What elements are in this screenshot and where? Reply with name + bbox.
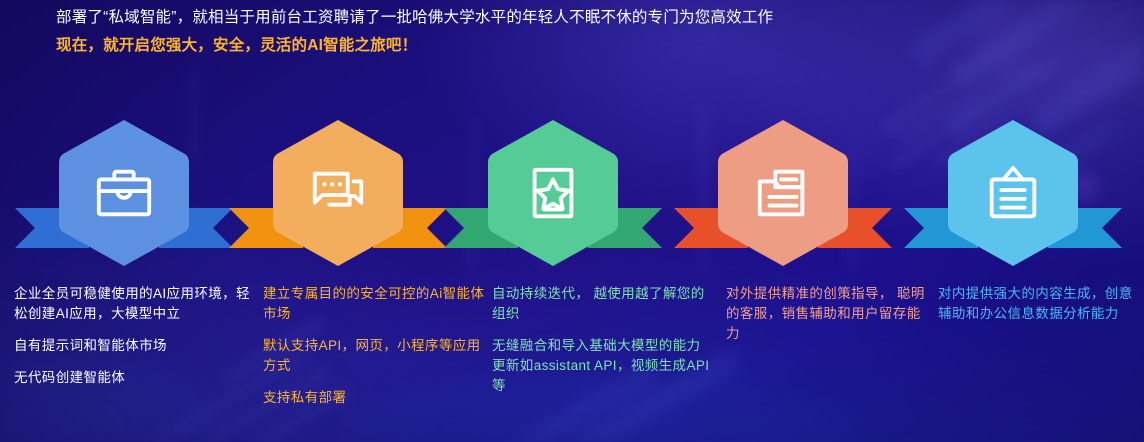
headline-line-2: 现在，就开启您强大，安全，灵活的AI智能之旅吧！	[56, 32, 1076, 60]
column-item: 企业全员可稳健使用的AI应用环境，轻松创建AI应用，大模型中立	[14, 284, 262, 324]
column-item: 对内提供强大的内容生成，创意辅助和办公信息数据分析能力	[938, 284, 1138, 324]
badge-board[interactable]	[938, 118, 1088, 268]
briefcase-icon	[57, 118, 191, 268]
column-item: 自有提示词和智能体市场	[14, 336, 262, 356]
slide-canvas: 部署了“私域智能”，就相当于用前台工资聘请了一批哈佛大学水平的年轻人不眠不休的专…	[0, 0, 1144, 442]
column-item: 建立专属目的的安全可控的Ai智能体市场	[263, 284, 485, 324]
feature-columns: 企业全员可稳健使用的AI应用环境，轻松创建AI应用，大模型中立 自有提示词和智能…	[0, 284, 1144, 442]
badge-chat[interactable]	[263, 118, 413, 268]
headline-block: 部署了“私域智能”，就相当于用前台工资聘请了一批哈佛大学水平的年轻人不眠不休的专…	[56, 4, 1076, 60]
headline-line-1: 部署了“私域智能”，就相当于用前台工资聘请了一批哈佛大学水平的年轻人不眠不休的专…	[56, 4, 1076, 32]
column-item: 默认支持API，网页，小程序等应用方式	[263, 336, 485, 376]
column-iteration: 自动持续迭代， 越使用越了解您的组织 无缝融合和导入基础大模型的能力更新如ass…	[492, 284, 714, 396]
file-drawer-icon	[716, 118, 850, 268]
badge-archive[interactable]	[708, 118, 858, 268]
column-external: 对外提供精准的创策指导， 聪明的客服，销售辅助和用户留存能力	[726, 284, 926, 344]
badge-row	[0, 118, 1144, 268]
column-item: 无代码创建智能体	[14, 368, 262, 388]
column-internal: 对内提供强大的内容生成，创意辅助和办公信息数据分析能力	[938, 284, 1138, 324]
column-item: 支持私有部署	[263, 388, 485, 408]
hanging-sign-icon	[946, 118, 1080, 268]
star-award-icon	[486, 118, 620, 268]
column-item: 无缝融合和导入基础大模型的能力更新如assistant API，视频生成API等	[492, 336, 714, 396]
column-item: 自动持续迭代， 越使用越了解您的组织	[492, 284, 714, 324]
badge-business[interactable]	[49, 118, 199, 268]
column-item: 对外提供精准的创策指导， 聪明的客服，销售辅助和用户留存能力	[726, 284, 926, 344]
column-marketplace: 建立专属目的的安全可控的Ai智能体市场 默认支持API，网页，小程序等应用方式 …	[263, 284, 485, 408]
column-enterprise: 企业全员可稳健使用的AI应用环境，轻松创建AI应用，大模型中立 自有提示词和智能…	[14, 284, 262, 388]
badge-certificate[interactable]	[478, 118, 628, 268]
chat-bubbles-icon	[271, 118, 405, 268]
